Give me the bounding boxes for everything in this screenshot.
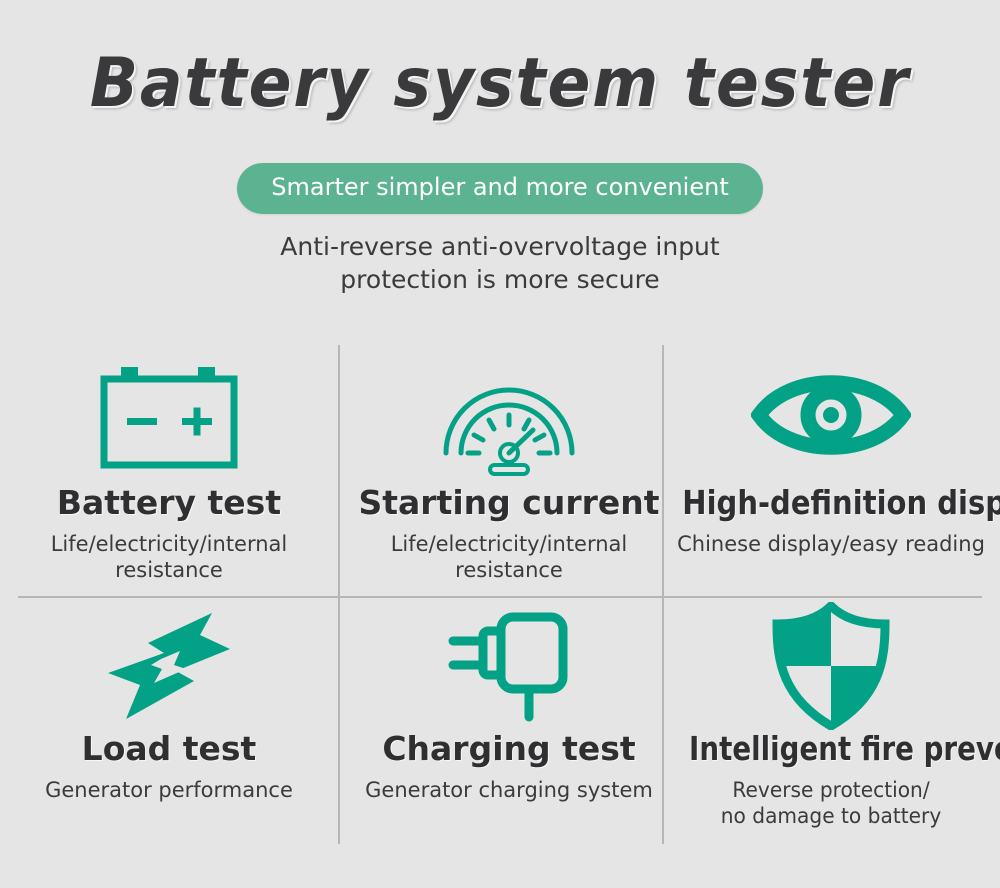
feature-cell-load-test: Load test Generator performance: [0, 601, 338, 803]
battery-icon: [94, 355, 244, 475]
tagline-badge: Smarter simpler and more convenient: [237, 163, 762, 213]
feature-title: Intelligent fire prevention: [689, 731, 973, 767]
battery-icon-container: [0, 345, 338, 485]
gauge-icon: [434, 353, 584, 478]
feature-title: Battery test: [0, 485, 338, 521]
feature-grid: Battery test Life/electricity/internal r…: [0, 345, 1000, 845]
eye-icon-container: [662, 345, 1000, 485]
feature-subtitle: Life/electricity/internal resistance: [0, 531, 338, 584]
feature-subtitle: Generator performance: [0, 777, 338, 803]
feature-cell-starting-current: Starting current Life/electricity/intern…: [340, 345, 678, 583]
shield-icon: [769, 602, 893, 730]
header: Battery system tester Smarter simpler an…: [0, 0, 1000, 296]
feature-title: Load test: [0, 731, 338, 767]
feature-subtitle: Life/electricity/internal resistance: [340, 531, 678, 584]
feature-title: Starting current: [340, 485, 678, 521]
feature-subtitle: Reverse protection/ no damage to battery: [669, 777, 993, 830]
feature-cell-fire-prevention: Intelligent fire prevention Reverse prot…: [662, 601, 1000, 829]
feature-subtitle: Generator charging system: [340, 777, 678, 803]
feature-title: High-definition display: [682, 485, 979, 521]
lightning-bolt-icon-container: [0, 601, 338, 731]
feature-cell-battery-test: Battery test Life/electricity/internal r…: [0, 345, 338, 583]
tagline-badge-wrap: Smarter simpler and more convenient: [0, 163, 1000, 213]
gauge-icon-container: [340, 345, 678, 485]
lightning-bolt-icon: [104, 607, 234, 725]
page-subtitle: Anti-reverse anti-overvoltage input prot…: [240, 230, 760, 296]
feature-cell-hd-display: High-definition display Chinese display/…: [662, 345, 1000, 557]
page-title: Battery system tester: [35, 48, 965, 119]
horizontal-divider: [18, 596, 982, 598]
feature-subtitle: Chinese display/easy reading: [662, 531, 1000, 557]
charger-plug-icon-container: [340, 601, 678, 731]
feature-title: Charging test: [340, 731, 678, 767]
shield-icon-container: [662, 601, 1000, 731]
charger-plug-icon: [439, 605, 579, 727]
eye-icon: [751, 360, 911, 470]
feature-cell-charging-test: Charging test Generator charging system: [340, 601, 678, 803]
